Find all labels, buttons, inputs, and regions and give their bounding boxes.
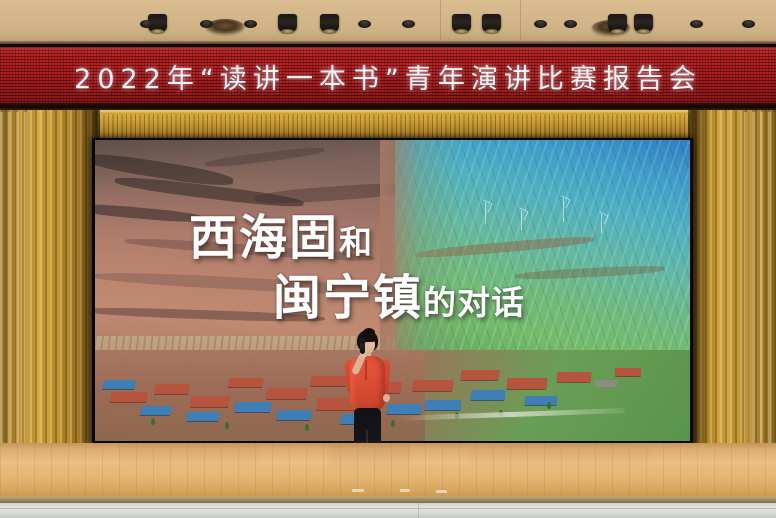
stage-light-icon: [402, 20, 415, 28]
floor-reflection: [120, 443, 260, 473]
stage-light-icon: [140, 20, 153, 28]
stage-light-icon: [608, 14, 627, 32]
floor-marker: [436, 490, 447, 493]
stage-light-icon: [534, 20, 547, 28]
auditorium-stage-photo: 2022年“读讲一本书”青年演讲比赛报告会: [0, 0, 776, 518]
stage-light-icon: [690, 20, 703, 28]
stage-light-icon: [278, 14, 297, 32]
apron-seam: [418, 503, 419, 518]
speaker-hand-right: [383, 394, 390, 402]
stage-light-icon: [200, 20, 213, 28]
stage-light-icon: [482, 14, 501, 32]
ceiling: [0, 0, 776, 46]
floor-reflection: [330, 443, 410, 473]
microphone-head-icon: [359, 338, 366, 344]
valance-top-edge: [0, 110, 776, 114]
led-banner: 2022年“读讲一本书”青年演讲比赛报告会: [0, 47, 776, 105]
stage-light-icon: [244, 20, 257, 28]
floor-reflection: [470, 443, 650, 473]
floor-marker: [400, 489, 410, 492]
floor-marker: [352, 489, 364, 492]
speaker-blouse-placket: [365, 360, 367, 380]
banner-title-text: 2022年“读讲一本书”青年演讲比赛报告会: [74, 57, 702, 96]
screen-image-village-green: [425, 350, 690, 441]
stage-light-icon: [358, 20, 371, 28]
apron-divider: [0, 508, 776, 509]
banner-frame: 2022年“读讲一本书”青年演讲比赛报告会: [0, 44, 776, 108]
stage-light-icon: [564, 20, 577, 28]
stage-light-icon: [742, 20, 755, 28]
stage-light-icon: [452, 14, 471, 32]
stage-curtain-right-sheer: [744, 112, 776, 454]
stage-curtain-left-sheer: [0, 112, 30, 454]
stage-apron: [0, 503, 776, 518]
stage-light-icon: [320, 14, 339, 32]
banner-glow: [0, 47, 776, 57]
stage-light-icon: [634, 14, 653, 32]
